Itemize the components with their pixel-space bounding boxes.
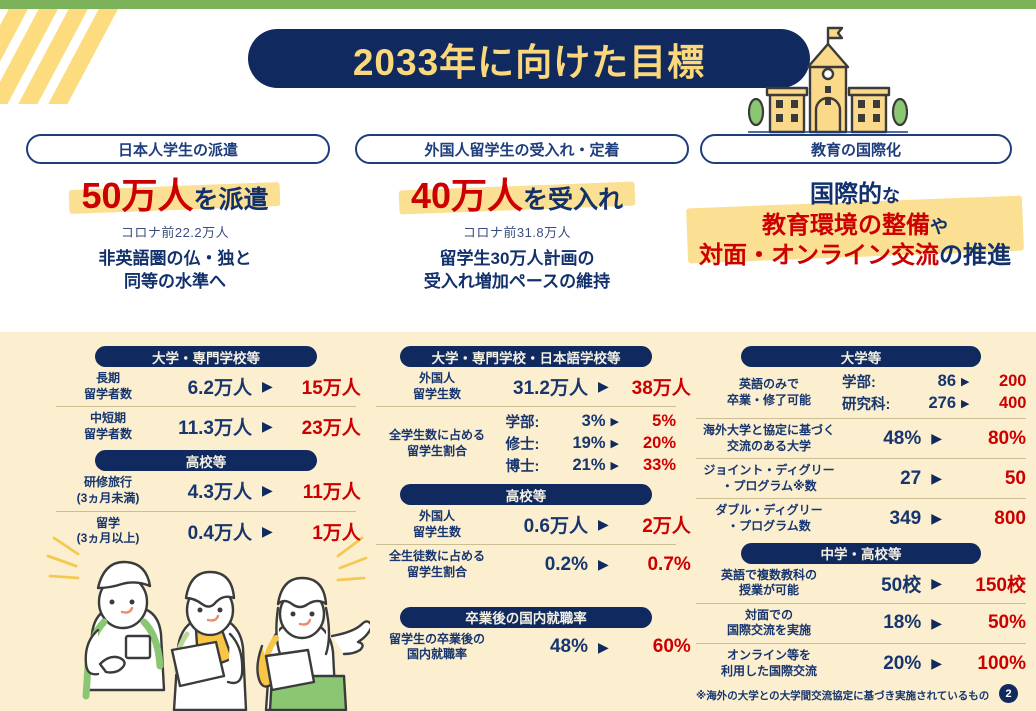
table-row: 英語で複数教科の 授業が可能 50校 ▶ 150校 — [696, 564, 1026, 604]
row-values: 31.2万人 ▶ 38万人 — [498, 373, 691, 400]
row-values: 48% ▶ 60% — [498, 636, 691, 658]
value-current: 6.2万人 — [160, 373, 252, 400]
arrow-icon: ▶ — [598, 516, 609, 533]
row-values: 20% ▶ 100% — [842, 653, 1026, 675]
hero-line2-a: 教育環境の整備 — [762, 212, 930, 239]
hero-number: 50万人 — [81, 175, 193, 216]
value-target: 15万人 — [283, 373, 361, 400]
footnote: ※海外の大学との大学間交流協定に基づき実施されているもの — [696, 688, 1026, 703]
row-label-line2: 利用した国際交流 — [721, 664, 817, 678]
row-label-line2: 交流のある大学 — [727, 439, 811, 453]
hero-headline: 国際的な 教育環境の整備や 対面・オンライン交流の推進 — [699, 180, 1011, 272]
arrow-icon: ▶ — [931, 575, 942, 592]
table-row: 留学 (3ヵ月以上) 0.4万人 ▶ 1万人 — [56, 512, 356, 551]
hero-subtext-line2: 受入れ増加ペースの維持 — [424, 272, 610, 291]
row-label-line1: 留学生の卒業後の — [389, 632, 485, 646]
hero-headline: 40万人を受入れ — [411, 176, 623, 216]
page-number-badge: 2 — [999, 684, 1018, 703]
row-label-line2: 授業が可能 — [739, 583, 799, 597]
section-header: 卒業後の国内就職率 — [400, 607, 652, 628]
row-label-line2: (3ヵ月未満) — [77, 491, 140, 505]
hero-subtext: 留学生30万人計画の 受入れ増加ペースの維持 — [352, 248, 682, 294]
school-building-icon — [748, 22, 908, 137]
value-target: 5% — [624, 412, 676, 431]
slide-title-pill: 2033年に向けた目標 — [248, 29, 810, 88]
value-current: 4.3万人 — [160, 477, 252, 504]
row-label-line2: ・プログラム※数 — [721, 479, 816, 493]
value-current: 48% — [849, 428, 921, 450]
top-accent-bar — [0, 0, 1036, 9]
row-label: オンライン等を 利用した国際交流 — [696, 648, 842, 679]
value-target: 1万人 — [283, 518, 361, 545]
value-current: 18% — [849, 612, 921, 634]
row-values: 48% ▶ 80% — [842, 428, 1026, 450]
value-target: 2万人 — [619, 511, 691, 538]
column-foreign-students: 大学・専門学校・日本語学校等 外国人 留学生数 31.2万人 ▶ 38万人 全学… — [376, 332, 676, 667]
row-label-line1: 英語のみで — [739, 377, 799, 391]
category-label: 日本人学生の派遣 — [118, 139, 238, 160]
subrow-key: 学部: — [842, 371, 904, 392]
table-row: 対面での 国際交流を実施 18% ▶ 50% — [696, 604, 1026, 644]
hero-precovid-note: コロナ前22.2万人 — [10, 222, 340, 241]
category-pill-foreign-students[interactable]: 外国人留学生の受入れ・定着 — [355, 134, 689, 164]
arrow-icon: ▶ — [598, 556, 609, 573]
value-current: 0.6万人 — [498, 511, 588, 538]
value-target: 38万人 — [619, 373, 691, 400]
row-label-line2: ・プログラム数 — [727, 519, 811, 533]
row-label-line2: 留学生数 — [413, 387, 461, 401]
table-row: 留学生の卒業後の 国内就職率 48% ▶ 60% — [376, 628, 676, 667]
arrow-icon: ▶ — [611, 415, 619, 428]
value-target: 50 — [952, 468, 1026, 490]
hero-subtext-line1: 非英語圏の仏・独と — [99, 249, 252, 268]
hero-line1-b: な — [882, 186, 900, 206]
table-row: 外国人 留学生数 0.6万人 ▶ 2万人 — [376, 505, 676, 545]
row-label-line2: 国内就職率 — [407, 647, 467, 661]
arrow-icon: ▶ — [611, 437, 619, 450]
section-header: 大学・専門学校等 — [95, 346, 317, 367]
table-row: 海外大学と協定に基づく 交流のある大学 48% ▶ 80% — [696, 419, 1026, 459]
section-header: 高校等 — [400, 484, 652, 505]
row-label-line1: 英語で複数教科の — [721, 568, 817, 582]
category-label: 外国人留学生の受入れ・定着 — [424, 139, 619, 160]
arrow-icon: ▶ — [598, 639, 609, 656]
row-label: 外国人 留学生数 — [376, 371, 498, 402]
row-label-line1: オンライン等を — [727, 648, 811, 662]
row-values: 4.3万人 ▶ 11万人 — [160, 477, 361, 504]
value-current: 276 — [904, 394, 956, 413]
hero-japanese-students: 50万人を派遣 コロナ前22.2万人 非英語圏の仏・独と 同等の水準へ — [10, 176, 340, 326]
value-target: 100% — [952, 653, 1026, 675]
hero-number: 40万人 — [411, 175, 523, 216]
subrow: 博士: 21% ▶ 33% — [506, 455, 676, 476]
slide-title: 2033年に向けた目標 — [353, 32, 705, 86]
hero-headline: 50万人を派遣 — [81, 176, 268, 216]
row-label-line2: 卒業・修了可能 — [727, 393, 811, 407]
arrow-icon: ▶ — [931, 470, 942, 487]
category-label: 教育の国際化 — [811, 139, 901, 160]
arrow-icon: ▶ — [611, 459, 619, 472]
arrow-icon: ▶ — [931, 615, 942, 632]
row-label-line2: 留学生数 — [413, 525, 461, 539]
row-label: 英語で複数教科の 授業が可能 — [696, 568, 842, 599]
table-row: 全生徒数に占める 留学生割合 0.2% ▶ 0.7% — [376, 545, 676, 584]
subrow: 研究科: 276 ▶ 400 — [842, 393, 1026, 414]
subrow-key: 博士: — [506, 455, 558, 476]
value-target: 11万人 — [283, 477, 361, 504]
column-internationalization: 大学等 英語のみで 卒業・修了可能 学部: 86 ▶ 200 研究科: 276 … — [696, 332, 1026, 703]
row-label-line1: 外国人 — [419, 509, 455, 523]
hero-line2-b: や — [930, 217, 948, 237]
table-row: ダブル・ディグリー ・プログラム数 349 ▶ 800 — [696, 499, 1026, 538]
row-values: 0.4万人 ▶ 1万人 — [160, 518, 361, 545]
row-label-line1: 全生徒数に占める — [389, 549, 485, 563]
value-target: 150校 — [952, 570, 1026, 597]
subrow: 修士: 19% ▶ 20% — [506, 433, 676, 454]
value-target: 800 — [952, 508, 1026, 530]
row-label-line1: 全学生数に占める — [389, 428, 485, 442]
arrow-icon: ▶ — [931, 510, 942, 527]
arrow-icon: ▶ — [262, 523, 273, 540]
category-pill-japanese-students[interactable]: 日本人学生の派遣 — [26, 134, 330, 164]
value-current: 31.2万人 — [498, 373, 588, 400]
students-illustration — [44, 530, 370, 711]
table-row: オンライン等を 利用した国際交流 20% ▶ 100% — [696, 644, 1026, 683]
row-values: 0.6万人 ▶ 2万人 — [498, 511, 691, 538]
table-row-multi: 英語のみで 卒業・修了可能 学部: 86 ▶ 200 研究科: 276 ▶ 40… — [696, 367, 1026, 419]
category-pill-internationalization[interactable]: 教育の国際化 — [700, 134, 1012, 164]
row-label: 中短期 留学者数 — [56, 411, 160, 442]
value-target: 23万人 — [283, 413, 361, 440]
row-values: 6.2万人 ▶ 15万人 — [160, 373, 361, 400]
hero-highlight: 国際的な 教育環境の整備や 対面・オンライン交流の推進 — [699, 180, 1011, 272]
row-label-line1: 対面での — [745, 608, 793, 622]
value-target: 200 — [974, 372, 1026, 391]
hero-highlight: 40万人を受入れ — [411, 176, 623, 216]
arrow-icon: ▶ — [931, 430, 942, 447]
row-label: ジョイント・ディグリー ・プログラム※数 — [696, 463, 842, 494]
value-current: 21% — [558, 456, 606, 475]
subrow-key: 研究科: — [842, 393, 904, 414]
row-label-line1: 留学 — [96, 516, 120, 530]
row-label-line1: 長期 — [96, 371, 120, 385]
value-current: 86 — [904, 372, 956, 391]
subrow: 学部: 3% ▶ 5% — [506, 411, 676, 432]
row-label-line1: 研修旅行 — [84, 475, 132, 489]
table-row: 中短期 留学者数 11.3万人 ▶ 23万人 — [56, 407, 356, 446]
hero-highlight: 50万人を派遣 — [81, 176, 268, 216]
subrow-key: 修士: — [506, 433, 558, 454]
row-values: 18% ▶ 50% — [842, 612, 1026, 634]
value-target: 80% — [952, 428, 1026, 450]
row-label: 研修旅行 (3ヵ月未満) — [56, 475, 160, 506]
row-label-line2: 留学者数 — [84, 387, 132, 401]
section-header: 高校等 — [95, 450, 317, 471]
value-current: 50校 — [849, 570, 921, 597]
value-target: 60% — [619, 636, 691, 658]
hero-suffix: を派遣 — [194, 186, 269, 214]
value-target: 400 — [974, 394, 1026, 413]
row-label-line1: 中短期 — [90, 411, 126, 425]
table-row-multi: 全学生数に占める 留学生割合 学部: 3% ▶ 5% 修士: 19% ▶ 20%… — [376, 407, 676, 480]
value-target: 50% — [952, 612, 1026, 634]
row-values: 0.2% ▶ 0.7% — [498, 554, 691, 576]
row-values: 27 ▶ 50 — [842, 468, 1026, 490]
arrow-icon: ▶ — [262, 418, 273, 435]
row-label: 対面での 国際交流を実施 — [696, 608, 842, 639]
value-target: 20% — [624, 434, 676, 453]
column-japanese-students: 大学・専門学校等 長期 留学者数 6.2万人 ▶ 15万人 中短期 留学者数 1… — [56, 332, 356, 551]
table-row: 研修旅行 (3ヵ月未満) 4.3万人 ▶ 11万人 — [56, 471, 356, 511]
row-label: 留学 (3ヵ月以上) — [56, 516, 160, 547]
hero-internationalization: 国際的な 教育環境の整備や 対面・オンライン交流の推進 — [680, 176, 1030, 326]
subrow: 学部: 86 ▶ 200 — [842, 371, 1026, 392]
hero-foreign-students: 40万人を受入れ コロナ前31.8万人 留学生30万人計画の 受入れ増加ペースの… — [352, 176, 682, 326]
hero-subtext-line2: 同等の水準へ — [124, 272, 226, 291]
arrow-icon: ▶ — [931, 655, 942, 672]
row-label-line1: 海外大学と協定に基づく — [703, 423, 835, 437]
arrow-icon: ▶ — [262, 378, 273, 395]
hero-subtext-line1: 留学生30万人計画の — [440, 249, 595, 268]
section-header: 中学・高校等 — [741, 543, 981, 564]
table-row: 外国人 留学生数 31.2万人 ▶ 38万人 — [376, 367, 676, 407]
row-label: 長期 留学者数 — [56, 371, 160, 402]
row-values-multi: 学部: 3% ▶ 5% 修士: 19% ▶ 20% 博士: 21% ▶ 33% — [498, 411, 676, 476]
row-label-line2: 留学生割合 — [407, 444, 467, 458]
value-current: 349 — [849, 508, 921, 530]
row-label: 英語のみで 卒業・修了可能 — [696, 377, 842, 408]
row-values: 349 ▶ 800 — [842, 508, 1026, 530]
hero-suffix: を受入れ — [523, 186, 623, 214]
row-label: 留学生の卒業後の 国内就職率 — [376, 632, 498, 663]
value-current: 19% — [558, 434, 606, 453]
row-values-multi: 学部: 86 ▶ 200 研究科: 276 ▶ 400 — [842, 371, 1026, 414]
row-label-line2: 留学者数 — [84, 427, 132, 441]
table-row: ジョイント・ディグリー ・プログラム※数 27 ▶ 50 — [696, 459, 1026, 499]
value-target: 0.7% — [619, 554, 691, 576]
row-label-line2: (3ヵ月以上) — [77, 531, 140, 545]
row-values: 11.3万人 ▶ 23万人 — [160, 413, 361, 440]
row-label-line2: 国際交流を実施 — [727, 623, 811, 637]
value-target: 33% — [624, 456, 676, 475]
row-label: 外国人 留学生数 — [376, 509, 498, 540]
section-header: 大学等 — [741, 346, 981, 367]
hero-subtext: 非英語圏の仏・独と 同等の水準へ — [10, 248, 340, 294]
value-current: 20% — [849, 653, 921, 675]
arrow-icon: ▶ — [262, 482, 273, 499]
value-current: 0.2% — [498, 554, 588, 576]
row-label-line1: ジョイント・ディグリー — [703, 463, 834, 477]
table-row: 長期 留学者数 6.2万人 ▶ 15万人 — [56, 367, 356, 407]
hero-line3-b: の推進 — [939, 242, 1011, 269]
row-label: 海外大学と協定に基づく 交流のある大学 — [696, 423, 842, 454]
section-header: 大学・専門学校・日本語学校等 — [400, 346, 652, 367]
row-label: ダブル・ディグリー ・プログラム数 — [696, 503, 842, 534]
subrow-key: 学部: — [506, 411, 558, 432]
row-label-line1: ダブル・ディグリー — [715, 503, 822, 517]
decorative-stripes-top-left — [0, 9, 220, 104]
row-label: 全学生数に占める 留学生割合 — [376, 428, 498, 459]
row-label-line2: 留学生割合 — [407, 565, 467, 579]
row-label-line1: 外国人 — [419, 371, 455, 385]
value-current: 11.3万人 — [160, 413, 252, 440]
arrow-icon: ▶ — [961, 397, 969, 410]
arrow-icon: ▶ — [598, 378, 609, 395]
arrow-icon: ▶ — [961, 375, 969, 388]
value-current: 3% — [558, 412, 606, 431]
data-panel: 大学・専門学校等 長期 留学者数 6.2万人 ▶ 15万人 中短期 留学者数 1… — [0, 332, 1036, 711]
value-current: 27 — [849, 468, 921, 490]
hero-line3-a: 対面・オンライン交流 — [699, 242, 939, 269]
value-current: 0.4万人 — [160, 518, 252, 545]
row-values: 50校 ▶ 150校 — [842, 570, 1026, 597]
row-label: 全生徒数に占める 留学生割合 — [376, 549, 498, 580]
hero-line1-a: 国際的 — [810, 181, 882, 208]
hero-precovid-note: コロナ前31.8万人 — [352, 222, 682, 241]
value-current: 48% — [498, 636, 588, 658]
